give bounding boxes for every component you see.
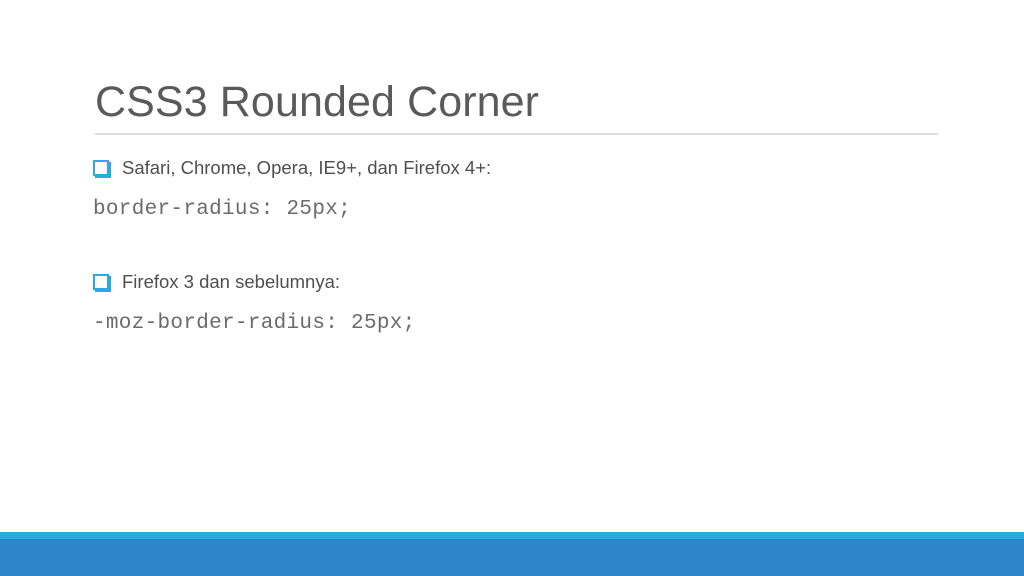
presentation-slide: CSS3 Rounded Corner Safari, Chrome, Oper…	[0, 0, 1024, 576]
slide-body: Safari, Chrome, Opera, IE9+, dan Firefox…	[93, 155, 953, 347]
footer-accent-stripe	[0, 532, 1024, 539]
title-divider	[95, 133, 938, 135]
title-block: CSS3 Rounded Corner	[95, 78, 938, 135]
list-item-label: Firefox 3 dan sebelumnya:	[122, 269, 340, 295]
hollow-square-bullet-icon	[93, 274, 109, 290]
footer-bar	[0, 539, 1024, 576]
content-spacer	[93, 233, 953, 269]
code-line: -moz-border-radius: 25px;	[93, 309, 953, 347]
code-line: border-radius: 25px;	[93, 195, 953, 233]
code-snippet: -moz-border-radius: 25px;	[93, 312, 416, 335]
code-snippet: border-radius: 25px;	[93, 198, 351, 221]
list-item: Firefox 3 dan sebelumnya:	[93, 269, 953, 299]
page-title: CSS3 Rounded Corner	[95, 78, 938, 126]
list-item-label: Safari, Chrome, Opera, IE9+, dan Firefox…	[122, 155, 491, 181]
hollow-square-bullet-icon	[93, 160, 109, 176]
list-item: Safari, Chrome, Opera, IE9+, dan Firefox…	[93, 155, 953, 185]
